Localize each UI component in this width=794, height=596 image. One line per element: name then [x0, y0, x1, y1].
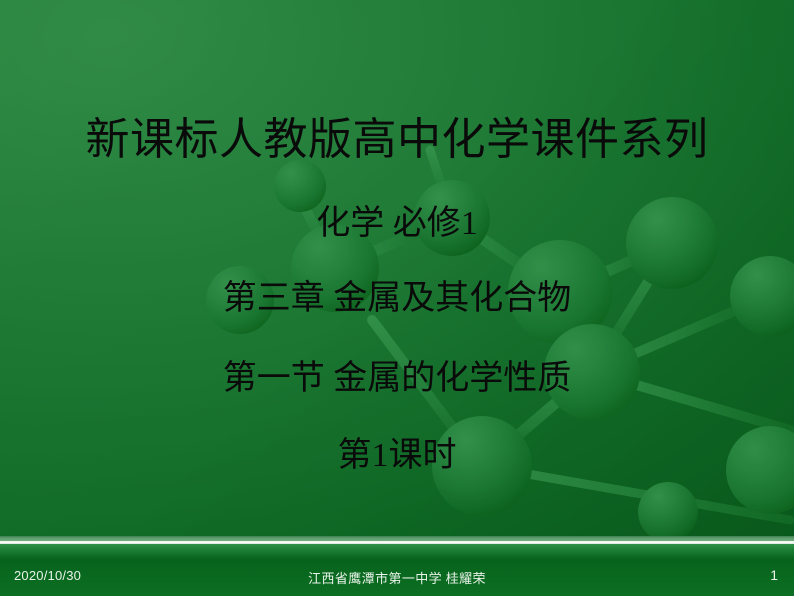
slide-text-block: 新课标人教版高中化学课件系列 化学 必修1 第三章 金属及其化合物 第一节 金属… — [0, 0, 794, 540]
divider-bar — [0, 544, 794, 560]
chapter-line: 第三章 金属及其化合物 — [0, 277, 794, 321]
page-title: 新课标人教版高中化学课件系列 — [0, 112, 794, 168]
presentation-slide: 新课标人教版高中化学课件系列 化学 必修1 第三章 金属及其化合物 第一节 金属… — [0, 0, 794, 596]
period-line: 第1课时 — [0, 434, 794, 478]
footer-divider — [0, 536, 794, 560]
footer-page-number: 1 — [770, 567, 778, 583]
footer-center-text: 江西省鹰潭市第一中学 桂耀荣 — [0, 568, 794, 587]
section-line: 第一节 金属的化学性质 — [0, 357, 794, 401]
subject-line: 化学 必修1 — [0, 202, 794, 246]
slide-footer: 2020/10/30 江西省鹰潭市第一中学 桂耀荣 1 — [0, 560, 794, 596]
